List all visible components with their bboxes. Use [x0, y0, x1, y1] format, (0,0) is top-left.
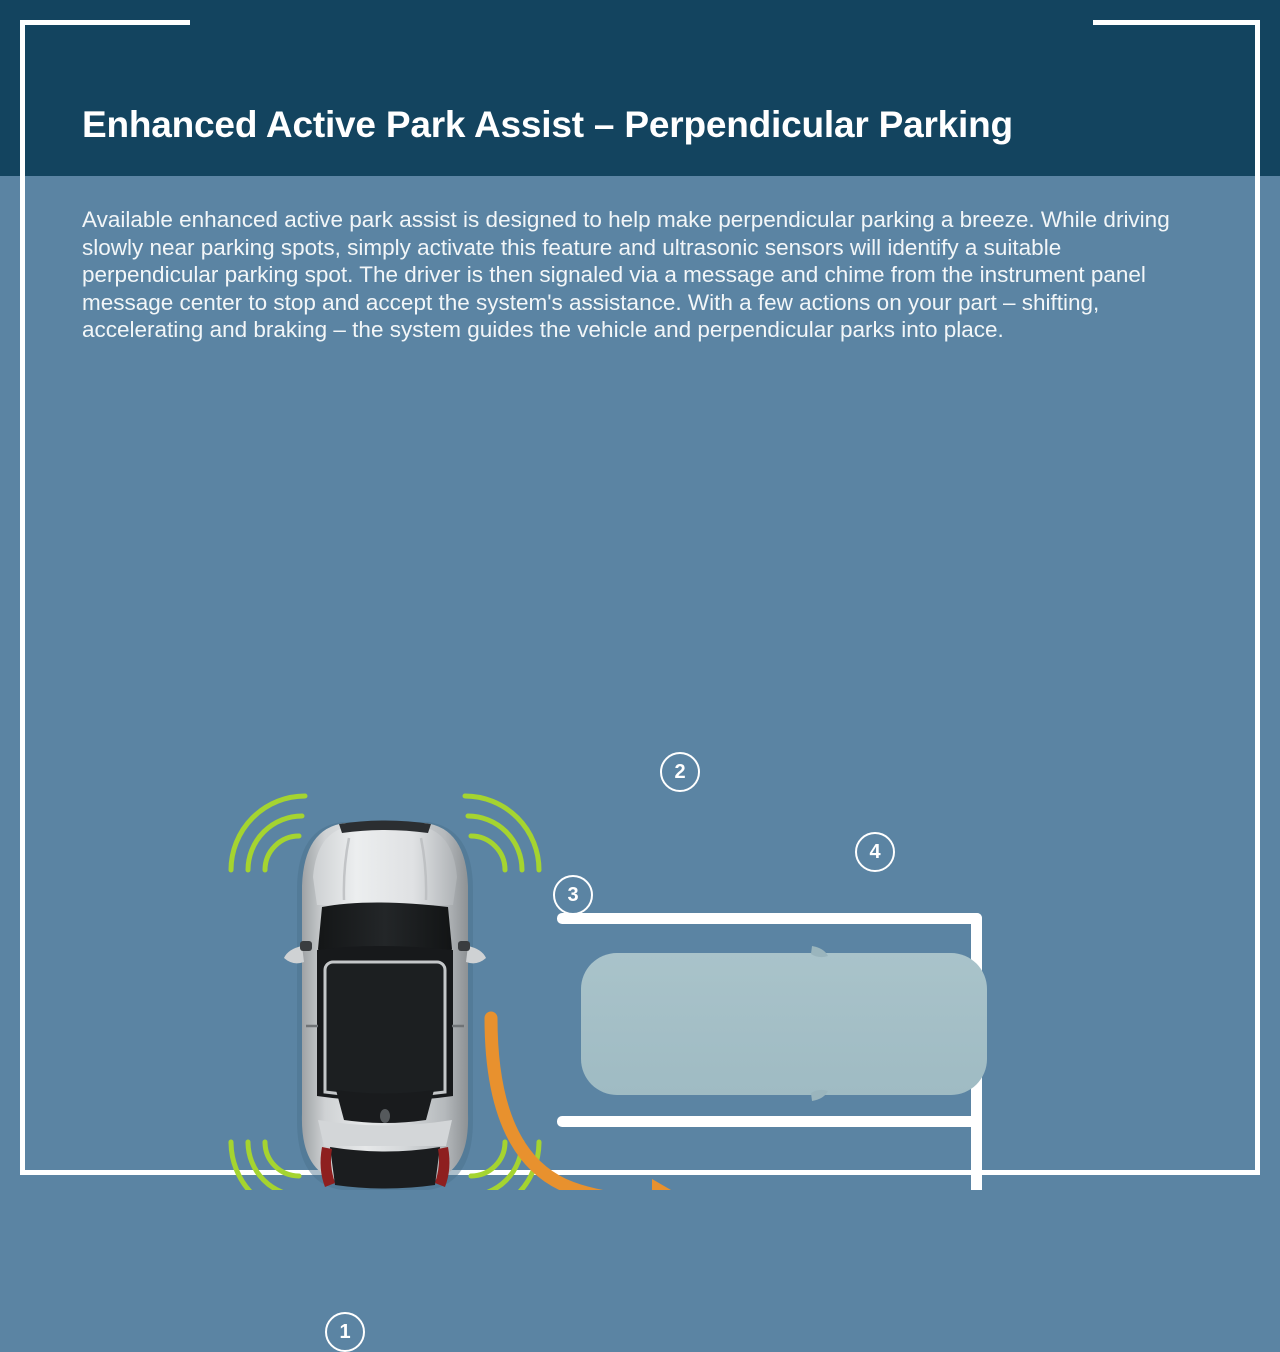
- step-badge-2-label: 2: [674, 761, 685, 784]
- page-title: Enhanced Active Park Assist – Perpendicu…: [82, 104, 1013, 146]
- body-paragraph: Available enhanced active park assist is…: [82, 206, 1192, 344]
- vehicle-roof-panel: [325, 962, 445, 1096]
- step-badge-4[interactable]: 4: [855, 832, 895, 872]
- vehicle-mirror-right-stalk: [458, 941, 470, 951]
- sensor-arc-rear-left: [231, 1142, 305, 1190]
- diagram-stage: 1 2 3 4: [0, 390, 1280, 1190]
- header-band: [0, 0, 1280, 176]
- vehicle-hood: [313, 826, 457, 905]
- bay-line-2: [557, 1116, 982, 1127]
- step-badge-1[interactable]: 1: [325, 1312, 365, 1352]
- step-badge-1-label: 1: [339, 1321, 350, 1344]
- infographic-root: Enhanced Active Park Assist – Perpendicu…: [0, 0, 1280, 1196]
- frame-top-left-segment: [20, 20, 190, 25]
- vehicle-rear-bumper: [330, 1147, 440, 1189]
- step-badge-2[interactable]: 2: [660, 752, 700, 792]
- step-badge-3-label: 3: [567, 884, 578, 907]
- frame-top-right-segment: [1093, 20, 1260, 25]
- vehicle-mirror-left-stalk: [300, 941, 312, 951]
- parked-car-top: [581, 946, 987, 1101]
- bay-line-1: [557, 913, 982, 924]
- step-badge-3[interactable]: 3: [553, 875, 593, 915]
- active-vehicle: [284, 821, 486, 1191]
- sensor-arc-front-left: [231, 796, 305, 870]
- sensor-arc-front-right: [465, 796, 539, 870]
- step-badge-4-label: 4: [869, 841, 880, 864]
- vehicle-antenna-fin: [380, 1109, 390, 1123]
